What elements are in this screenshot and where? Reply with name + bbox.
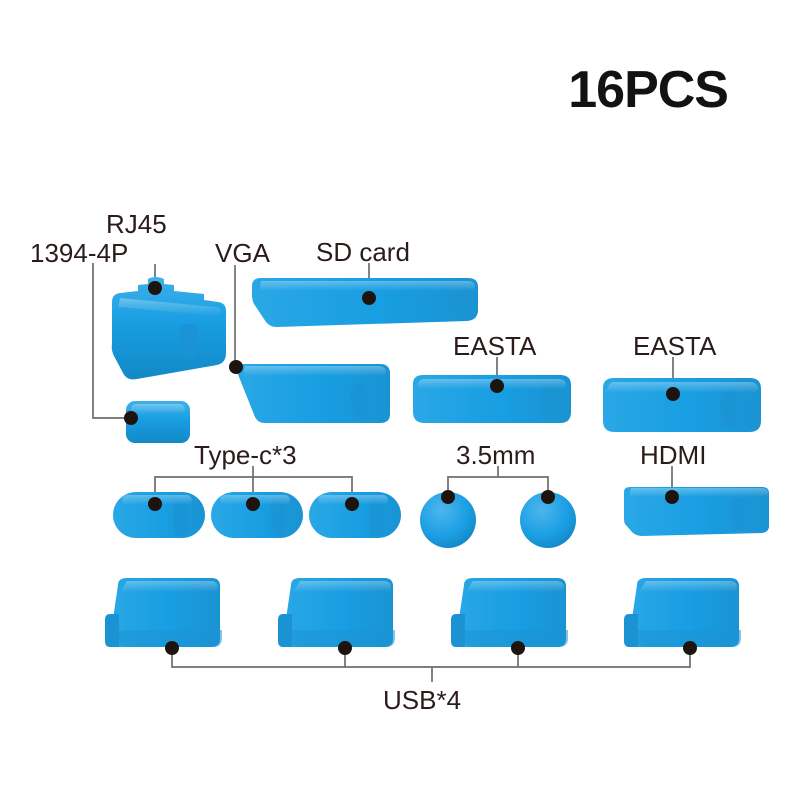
- hdmi-plug: [624, 487, 769, 536]
- label-esata-2: EASTA: [633, 333, 716, 359]
- label-usb: USB*4: [383, 687, 461, 713]
- usb-plug-1: [105, 578, 222, 647]
- usb-plug-2: [278, 578, 395, 647]
- label-1394-4p: 1394-4P: [30, 240, 128, 266]
- dust-plug-set-illustration: [0, 0, 800, 800]
- usb-plug-3: [451, 578, 568, 647]
- esata-plug-2: [603, 378, 761, 432]
- label-vga: VGA: [215, 240, 270, 266]
- count-badge: 16PCS: [568, 64, 728, 116]
- label-esata-1: EASTA: [453, 333, 536, 359]
- product-image-canvas: 16PCS 1394-4P RJ45 VGA SD card EASTA EAS…: [0, 0, 800, 800]
- vga-plug: [237, 364, 390, 423]
- label-rj45: RJ45: [106, 211, 167, 237]
- rj45-plug: [112, 277, 226, 379]
- label-3-5mm: 3.5mm: [456, 442, 535, 468]
- label-type-c: Type-c*3: [194, 442, 297, 468]
- label-hdmi: HDMI: [640, 442, 706, 468]
- usb-plug-4: [624, 578, 741, 647]
- label-sd-card: SD card: [316, 239, 410, 265]
